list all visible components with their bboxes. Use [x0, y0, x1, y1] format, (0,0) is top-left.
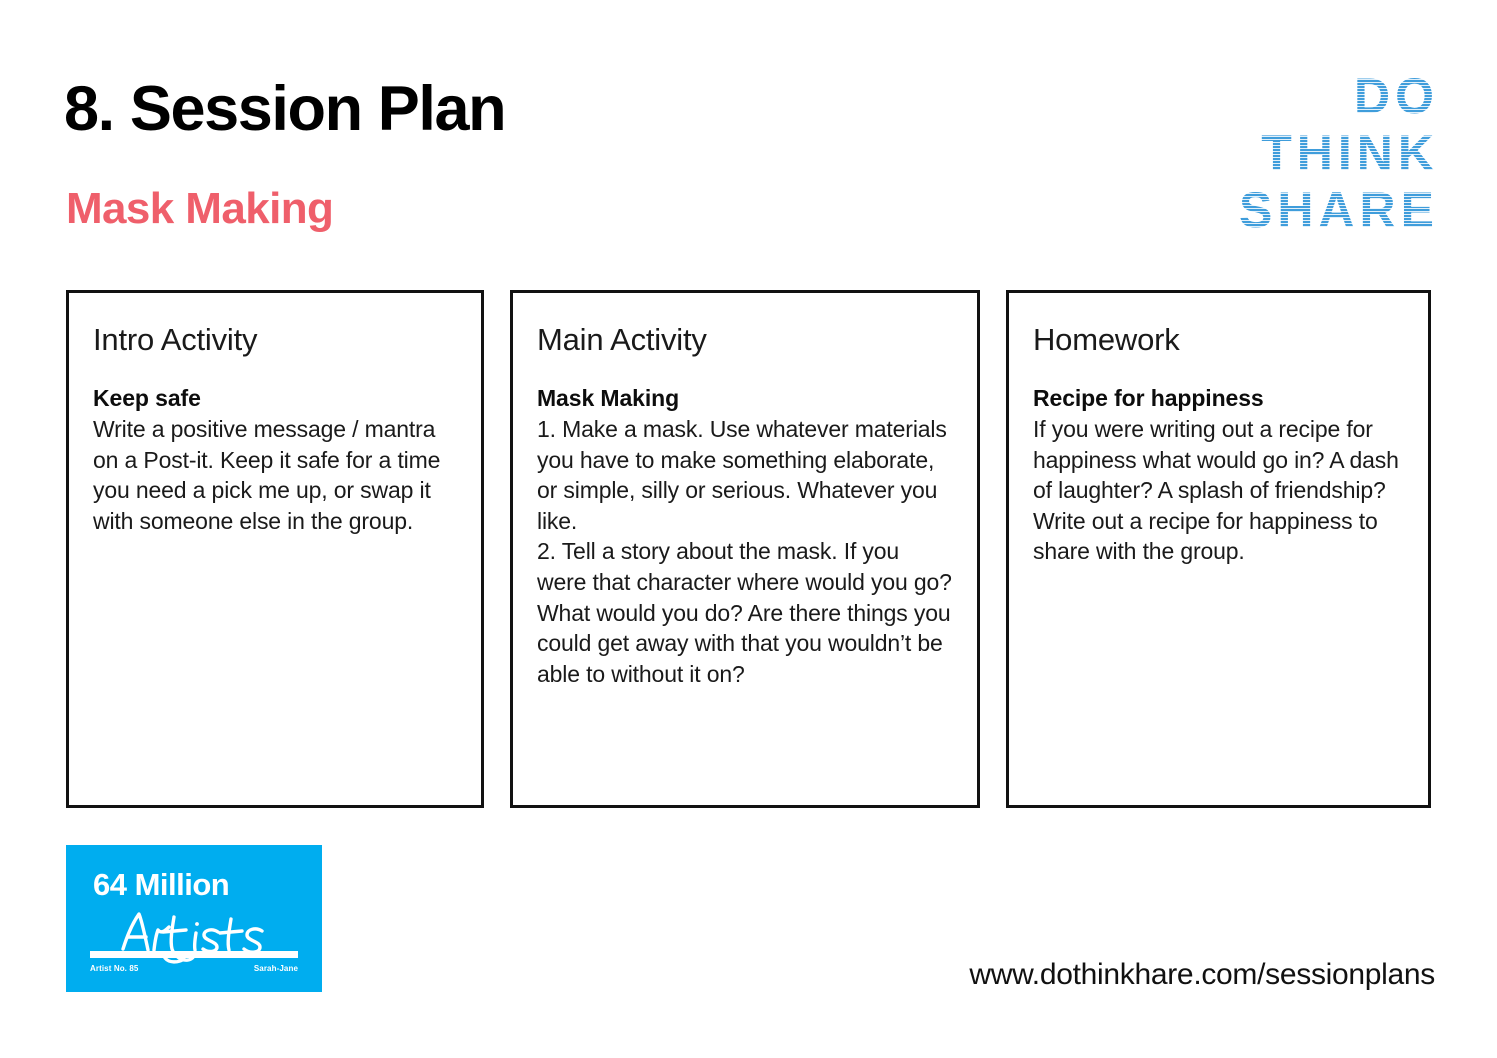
badge-title: 64 Million: [93, 867, 229, 903]
panel-subheading: Mask Making: [537, 383, 953, 414]
panel-subheading: Recipe for happiness: [1033, 383, 1404, 414]
panel-body: If you were writing out a recipe for hap…: [1033, 414, 1404, 567]
panel-heading: Main Activity: [537, 323, 953, 357]
sixty-four-million-artists-badge: 64 Million: [66, 845, 322, 992]
panel-homework: Homework Recipe for happiness If you wer…: [1006, 290, 1431, 808]
page-subtitle: Mask Making: [66, 186, 333, 232]
badge-divider: [90, 951, 298, 958]
badge-artist-name: Sarah-Jane: [254, 964, 298, 973]
panel-heading: Intro Activity: [93, 323, 457, 357]
panel-heading: Homework: [1033, 323, 1404, 357]
logo-line-think-text: THINK: [1261, 125, 1439, 181]
logo-line-do: DO: [1189, 68, 1439, 125]
session-plan-panels: Intro Activity Keep safe Write a positiv…: [66, 290, 1431, 808]
logo-line-share-text: SHARE: [1239, 182, 1439, 238]
logo-line-think: THINK: [1189, 125, 1439, 182]
footer-website-url[interactable]: www.dothinkhare.com/sessionplans: [969, 958, 1435, 992]
panel-body: Write a positive message / mantra on a P…: [93, 414, 457, 536]
panel-subheading: Keep safe: [93, 383, 457, 414]
do-think-share-logo: DO THINK SHARE: [1189, 68, 1439, 239]
panel-body: 1. Make a mask. Use whatever materials y…: [537, 414, 953, 689]
logo-line-do-text: DO: [1354, 68, 1439, 124]
badge-footer: Artist No. 85 Sarah-Jane: [90, 964, 298, 973]
panel-main-activity: Main Activity Mask Making 1. Make a mask…: [510, 290, 980, 808]
logo-line-share: SHARE: [1189, 182, 1439, 239]
page-title: 8. Session Plan: [64, 76, 505, 142]
panel-intro-activity: Intro Activity Keep safe Write a positiv…: [66, 290, 484, 808]
badge-artist-number: Artist No. 85: [90, 964, 138, 973]
